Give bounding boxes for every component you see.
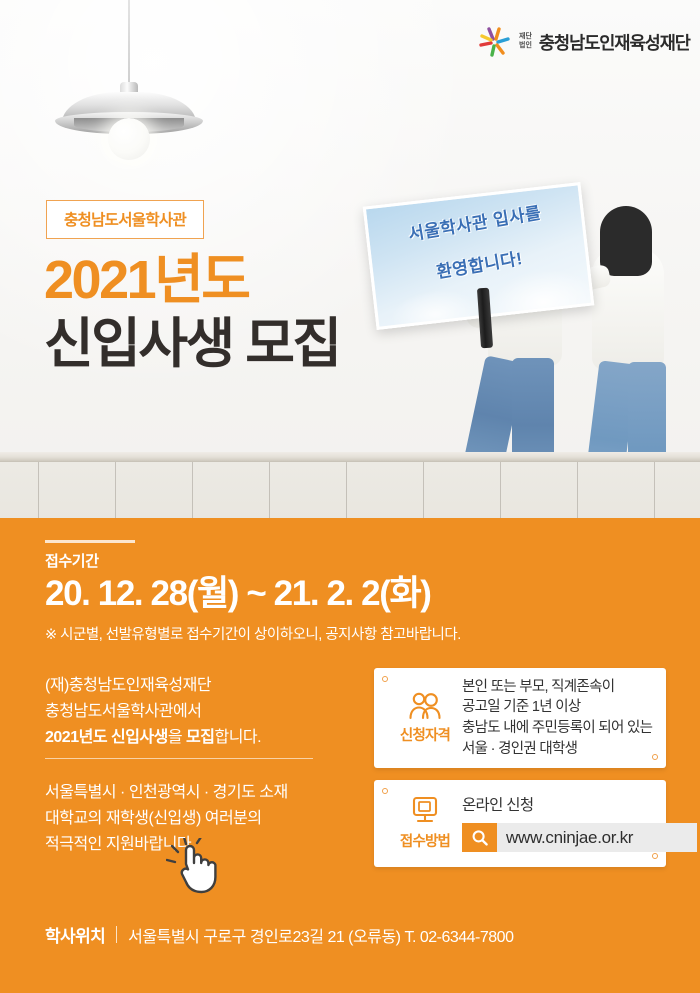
method-heading: 온라인 신청 (462, 795, 656, 817)
two-people-icon (408, 692, 442, 720)
monitor-icon (409, 796, 441, 826)
intro-strong-1: 2021년도 신입사생 (45, 729, 168, 746)
footer-divider (116, 926, 117, 943)
info-panel: 접수기간 20. 12. 28(월) ~ 21. 2. 2(화) ※ 시군별, … (0, 518, 700, 993)
card-application-method: 접수방법 온라인 신청 www.cninjae.or.kr (374, 780, 666, 867)
hero-title-main: 신입사생 모집 (44, 317, 340, 371)
intro-line-2: 충청남도서울학사관에서 (45, 699, 313, 725)
period-label: 접수기간 (45, 550, 461, 571)
eligibility-line: 서울 · 경인권 대학생 (462, 739, 656, 760)
logo-name: 충청남도인재육성재단 (539, 30, 690, 55)
intro-block: (재)충청남도인재육성재단 충청남도서울학사관에서 2021년도 신입사생을 모… (45, 673, 313, 759)
footer-location: 학사위치 서울특별시 구로구 경인로23길 21 (오류동) T. 02-634… (45, 922, 513, 947)
period-note: ※ 시군별, 선발유형별로 접수기간이 상이하오니, 공지사항 참고바랍니다. (45, 623, 461, 644)
magnifier-icon (471, 829, 489, 847)
poster-root: 서울학사관 입사를 환영합니다! (0, 0, 700, 993)
intro-strong-2: 모집 (186, 729, 214, 746)
hero-title-year: 2021년도 (44, 253, 249, 307)
search-button[interactable] (462, 823, 497, 852)
method-caption: 접수방법 (400, 830, 450, 851)
intro-tail: 합니다. (214, 729, 261, 746)
foundation-logo: 재단 법인 충청남도인재육성재단 (478, 26, 690, 58)
eligibility-icon-group: 신청자격 (388, 668, 462, 768)
eligibility-caption: 신청자격 (400, 724, 450, 745)
pinwheel-logo-icon (478, 26, 512, 58)
period-rule (45, 540, 135, 543)
wainscot-panel (0, 461, 700, 521)
method-icon-group: 접수방법 (388, 780, 462, 867)
card-eligibility: 신청자격 본인 또는 부모, 직계존속이 공고일 기준 1년 이상 충남도 내에… (374, 668, 666, 768)
eligibility-line: 본인 또는 부모, 직계존속이 (462, 677, 656, 698)
intro-underline (45, 758, 313, 759)
female-hair (600, 206, 652, 276)
eligibility-line: 공고일 기준 1년 이상 (462, 697, 656, 718)
eligibility-line: 충남도 내에 주민등록이 되어 있는 (462, 718, 656, 739)
intro-line-1: (재)충청남도인재육성재단 (45, 673, 313, 699)
method-text: 온라인 신청 www.cninjae.or.kr (462, 780, 656, 867)
hero-badge: 충청남도서울학사관 (46, 200, 204, 239)
period-block: 접수기간 20. 12. 28(월) ~ 21. 2. 2(화) ※ 시군별, … (45, 540, 461, 644)
period-dates: 20. 12. 28(월) ~ 21. 2. 2(화) (45, 573, 461, 614)
appeal-line-1: 서울특별시 · 인천광역시 · 경기도 소재 (45, 780, 288, 806)
intro-line-3: 2021년도 신입사생을 모집합니다. (45, 725, 313, 751)
url-value[interactable]: www.cninjae.or.kr (497, 823, 697, 852)
hero-scene: 서울학사관 입사를 환영합니다! (0, 0, 700, 521)
wainscot-cap (0, 452, 700, 461)
intro-mid: 을 (168, 729, 186, 746)
clicking-hand-icon (166, 838, 226, 900)
lamp-cord (128, 0, 130, 86)
logo-subtext: 재단 법인 (519, 33, 532, 50)
eligibility-text: 본인 또는 부모, 직계존속이 공고일 기준 1년 이상 충남도 내에 주민등록… (462, 668, 656, 768)
footer-address: 서울특별시 구로구 경인로23길 21 (오류동) T. 02-6344-780… (128, 923, 513, 947)
footer-label: 학사위치 (45, 922, 105, 947)
url-search-row[interactable]: www.cninjae.or.kr (462, 823, 697, 852)
lamp-bulb (108, 118, 150, 160)
appeal-line-2: 대학교의 재학생(신입생) 여러분의 (45, 806, 288, 832)
